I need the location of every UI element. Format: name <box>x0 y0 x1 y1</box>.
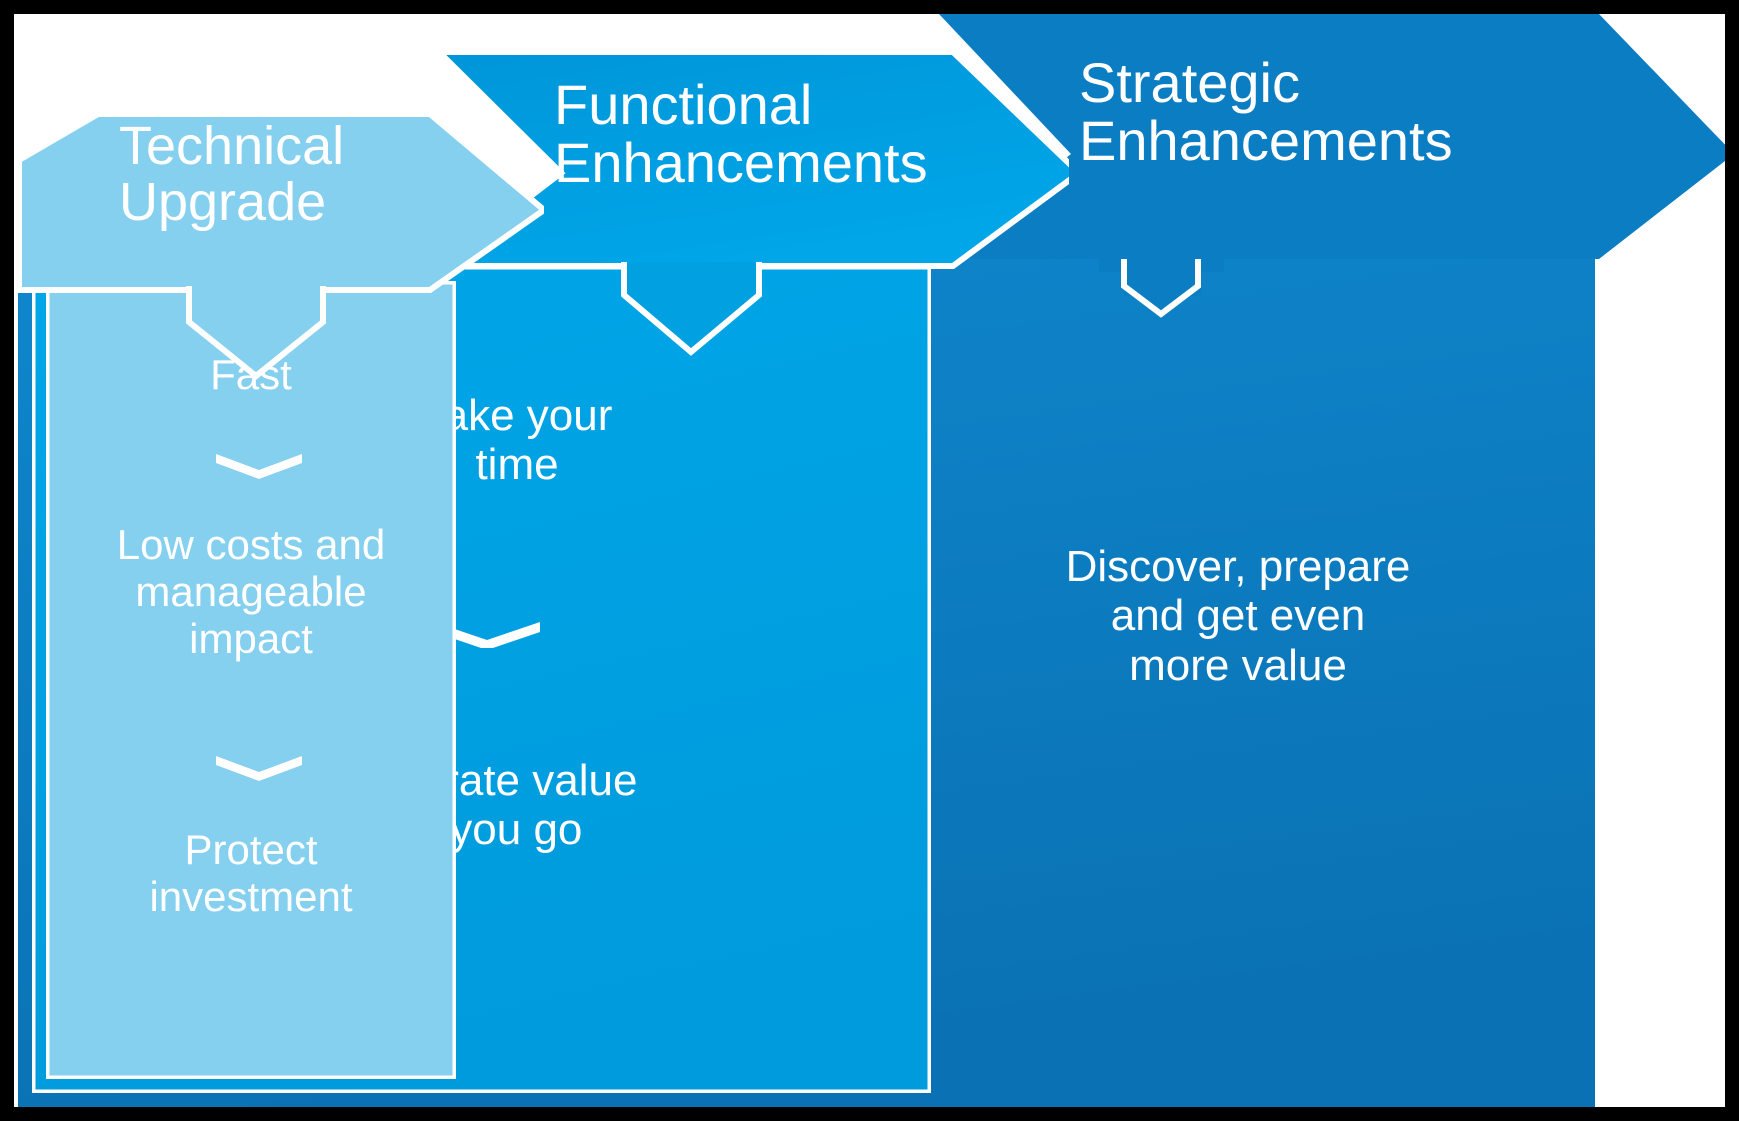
stage-3-item-0: Discover, prepare and get even more valu… <box>968 542 1508 690</box>
stage-1-item-1: Low costs and manageable impact <box>46 521 456 662</box>
stage-1-chevron-label: Technical Upgrade <box>119 118 519 230</box>
stage-1-item-2: Protect investment <box>46 826 456 920</box>
stage-2-chevron-label: Functional Enhancements <box>554 76 1094 192</box>
diagram-canvas: Discover, prepare and get even more valu… <box>14 14 1725 1107</box>
stage-1-separator-0 <box>214 451 304 477</box>
diagram-root: Discover, prepare and get even more valu… <box>0 0 1739 1121</box>
stage-1-separator-1 <box>214 753 304 779</box>
stage-1-chevron[interactable]: Technical Upgrade <box>14 114 544 434</box>
stage-3-chevron-label: Strategic Enhancements <box>1079 54 1699 170</box>
